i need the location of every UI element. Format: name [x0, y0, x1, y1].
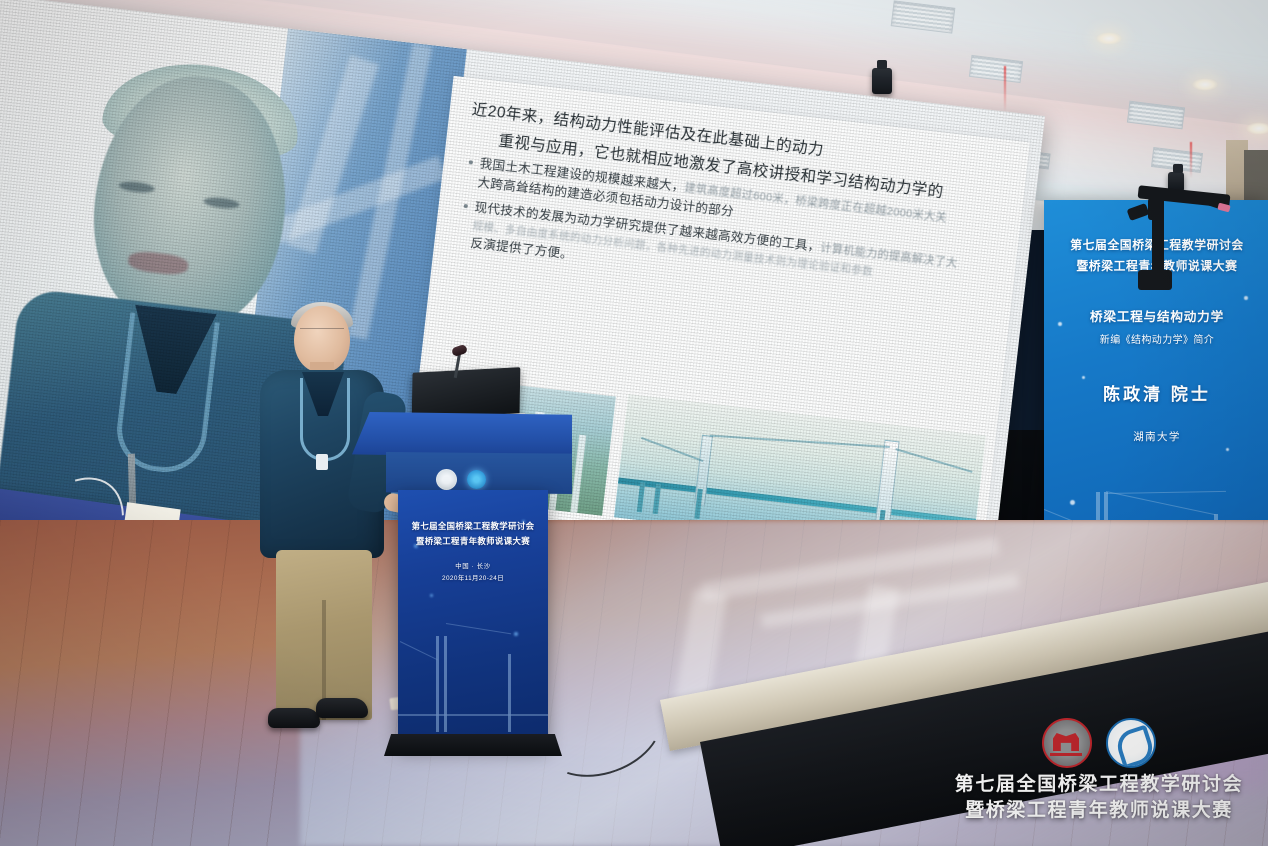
podium-conference-line-2: 暨桥梁工程青年教师说课大赛	[398, 535, 548, 547]
bridge-pier	[637, 482, 645, 512]
podium-bridge-graphic	[398, 596, 548, 746]
bridge-cable	[896, 448, 973, 472]
watermark-line-2: 暨桥梁工程青年教师说课大赛	[930, 798, 1268, 824]
banner-topic: 桥梁工程与结构动力学	[1044, 306, 1268, 325]
rig-counterweight	[1127, 203, 1150, 221]
speaker-podium: 第七届全国桥梁工程教学研讨会 暨桥梁工程青年教师说课大赛 中国 · 长沙 202…	[352, 412, 572, 752]
institution-circular-logo-icon	[467, 470, 486, 489]
banner-bridge-cable	[1106, 491, 1216, 516]
institution-circular-logo-icon	[1106, 718, 1156, 768]
bridge-pier	[653, 484, 661, 514]
podium-base	[384, 734, 562, 756]
banner-speaker-name: 陈政清 院士	[1044, 380, 1268, 405]
speaker-glasses	[300, 328, 344, 339]
podium-bridge-tower	[508, 654, 511, 732]
podium-top-surface	[352, 412, 572, 458]
laser-beam	[1190, 142, 1192, 178]
podium-bridge-cable	[446, 623, 511, 634]
speaker-lanyard	[300, 378, 350, 461]
podium-front-panel: 第七届全国桥梁工程教学研讨会 暨桥梁工程青年教师说课大赛 中国 · 长沙 202…	[398, 490, 548, 746]
watermark-line-1: 第七届全国桥梁工程教学研讨会	[930, 772, 1268, 798]
bridge-cable	[641, 436, 703, 461]
podium-glow-dot	[430, 594, 433, 597]
bridge-deck	[618, 477, 976, 524]
bridge-cable	[710, 434, 890, 447]
watermark-logos	[930, 718, 1268, 768]
podium-bridge-tower	[436, 636, 439, 732]
event-watermark-overlay: 第七届全国桥梁工程教学研讨会 暨桥梁工程青年教师说课大赛	[930, 718, 1268, 838]
ceiling-downlight	[1246, 122, 1268, 135]
rig-marker-tape	[1217, 203, 1230, 213]
conference-hall-photo: 近20年来，结构动力性能评估及在此基础上的动力 重视与应用，它也就相应地激发了高…	[0, 0, 1268, 846]
hunan-university-seal-icon	[1042, 718, 1092, 768]
podium-bridge-deck	[398, 714, 548, 716]
ceiling-downlight	[1192, 78, 1218, 91]
podium-bridge-cable	[400, 641, 438, 660]
rig-camera-head	[1138, 270, 1172, 290]
banner-affiliation: 湖南大学	[1044, 429, 1268, 444]
podium-emblems	[386, 468, 536, 490]
ceiling-downlight	[1096, 32, 1122, 45]
speaker-shoe-left	[268, 708, 320, 728]
stage-spotlight	[872, 68, 892, 94]
camera-robot-arm	[1112, 188, 1232, 300]
banner-subtopic: 新编《结构动力学》简介	[1044, 331, 1268, 346]
hunan-university-seal-icon	[436, 469, 457, 490]
laser-beam	[1004, 66, 1006, 112]
podium-bridge-tower	[444, 636, 447, 732]
podium-location: 中国 · 长沙	[398, 561, 548, 570]
banner-bridge-cable	[1106, 491, 1226, 494]
podium-text-block: 第七届全国桥梁工程教学研讨会 暨桥梁工程青年教师说课大赛 中国 · 长沙 202…	[398, 520, 548, 582]
slide-body-text: 近20年来，结构动力性能评估及在此基础上的动力 重视与应用，它也就相应地激发了高…	[455, 98, 1017, 316]
podium-date: 2020年11月20-24日	[398, 573, 548, 582]
speaker-name-badge	[316, 454, 328, 470]
podium-glow-dot	[514, 632, 518, 636]
podium-conference-line-1: 第七届全国桥梁工程教学研讨会	[398, 520, 548, 532]
